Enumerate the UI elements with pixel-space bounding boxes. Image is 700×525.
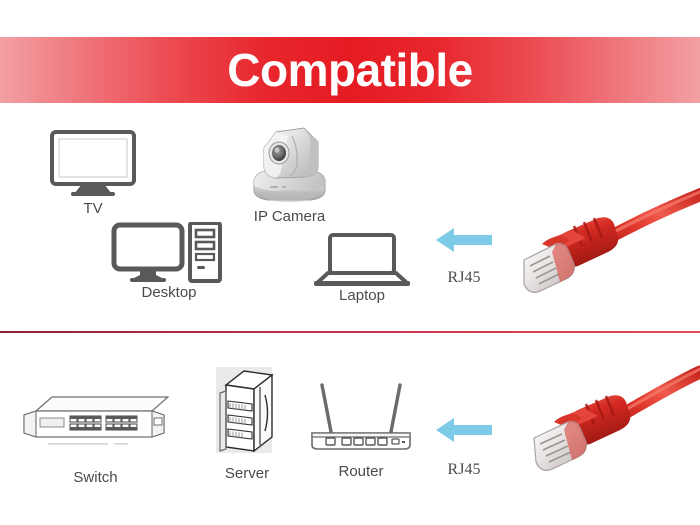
rj45-cable-bottom	[520, 358, 700, 486]
tv-icon	[38, 128, 148, 200]
device-label-desktop: Desktop	[110, 284, 228, 302]
device-label-server: Server	[210, 465, 284, 483]
device-router: Router	[308, 375, 414, 481]
header-banner: Compatible	[0, 37, 700, 103]
switch-icon	[18, 385, 173, 457]
connector-label-rj45-bottom: RJ45	[424, 461, 504, 479]
arrow-left-icon	[424, 415, 504, 445]
arrow-left-icon	[424, 225, 504, 255]
ip-camera-icon	[232, 122, 347, 208]
connector-rj45-bottom: RJ45	[424, 415, 504, 479]
rj45-cable-top	[512, 186, 700, 298]
compatibility-diagram: Compatible TV	[0, 0, 700, 525]
section-divider	[0, 331, 700, 333]
device-desktop: Desktop	[110, 222, 228, 302]
desktop-icon	[110, 222, 228, 284]
device-switch: Switch	[18, 385, 173, 487]
page-title: Compatible	[227, 47, 472, 93]
rj45-cable-icon	[520, 358, 700, 486]
device-server: Server	[210, 365, 284, 483]
device-ip-camera: IP Camera	[232, 122, 347, 226]
device-label-ip-camera: IP Camera	[232, 208, 347, 226]
connector-label-rj45-top: RJ45	[424, 269, 504, 287]
device-label-router: Router	[308, 463, 414, 481]
device-label-tv: TV	[38, 200, 148, 218]
device-laptop: Laptop	[312, 233, 412, 305]
laptop-icon	[312, 233, 412, 287]
rj45-cable-icon	[512, 186, 700, 298]
device-tv: TV	[38, 128, 148, 218]
device-label-switch: Switch	[18, 469, 173, 487]
device-label-laptop: Laptop	[312, 287, 412, 305]
router-icon	[308, 375, 414, 457]
server-rack-icon	[210, 365, 284, 459]
connector-rj45-top: RJ45	[424, 225, 504, 287]
